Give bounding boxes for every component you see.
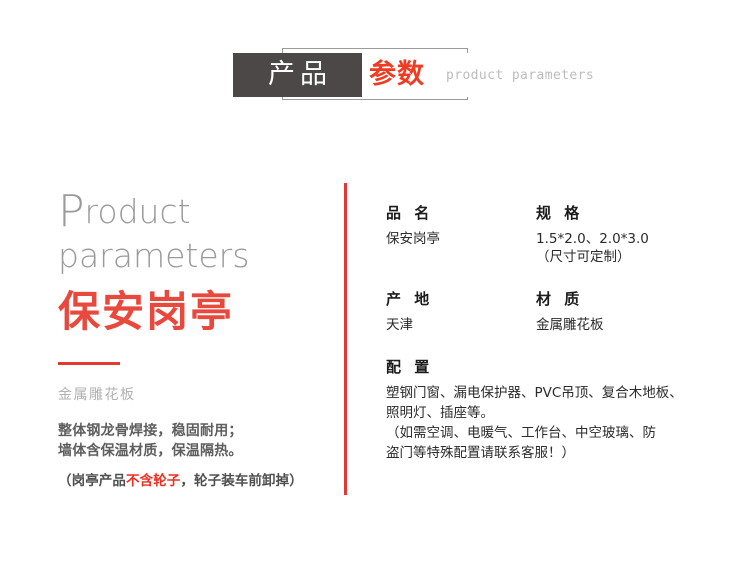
column-divider: [344, 183, 347, 495]
spec-label-material: 材 质: [536, 288, 726, 309]
left-column: Product parameters 保安岗亭 金属雕花板 整体钢龙骨焊接，稳固…: [58, 150, 328, 489]
accent-rule: [58, 362, 120, 365]
spec-value-material: 金属雕花板: [536, 316, 726, 334]
spec-value-size: 1.5*2.0、2.0*3.0 （尺寸可定制）: [536, 230, 726, 266]
header-title-primary: 产品: [233, 53, 362, 97]
description-block: 整体钢龙骨焊接，稳固耐用； 墙体含保温材质，保温隔热。: [58, 421, 328, 461]
spec-row: 品 名 保安岗亭 规 格 1.5*2.0、2.0*3.0 （尺寸可定制）: [386, 202, 726, 266]
config-text-line: 塑钢门窗、漏电保护器、PVC吊顶、复合木地板、: [386, 383, 716, 403]
spec-value-origin: 天津: [386, 316, 536, 334]
config-text: 塑钢门窗、漏电保护器、PVC吊顶、复合木地板、 照明灯、插座等。 （如需空调、电…: [386, 383, 716, 463]
config-label: 配 置: [386, 356, 726, 377]
english-title-rest: roduct: [85, 192, 191, 231]
material-subtitle: 金属雕花板: [58, 384, 328, 404]
configuration-block: 配 置 塑钢门窗、漏电保护器、PVC吊顶、复合木地板、 照明灯、插座等。 （如需…: [386, 356, 726, 463]
wheel-note: （岗亭产品不含轮子，轮子装车前卸掉）: [58, 469, 328, 489]
spec-value-line: 保安岗亭: [386, 230, 536, 248]
config-text-line: 盗门等特殊配置请联系客服！）: [386, 443, 716, 463]
wheel-note-suffix: ，轮子装车前卸掉）: [180, 473, 302, 489]
wheel-note-prefix: （岗亭产品: [58, 473, 126, 489]
header-title-english: product parameters: [443, 53, 597, 97]
english-title: Product parameters: [58, 192, 328, 276]
spec-cell-origin: 产 地 天津: [386, 288, 536, 334]
spec-value-product-name: 保安岗亭: [386, 230, 536, 248]
wheel-note-highlight: 不含轮子: [126, 473, 180, 489]
config-text-line: 照明灯、插座等。: [386, 403, 716, 423]
description-line-2: 墙体含保温材质，保温隔热。: [58, 441, 328, 461]
spec-row: 产 地 天津 材 质 金属雕花板: [386, 288, 726, 334]
spec-value-line: 金属雕花板: [536, 316, 726, 334]
spec-cell-product-name: 品 名 保安岗亭: [386, 202, 536, 266]
spec-value-line: （尺寸可定制）: [536, 248, 726, 266]
spec-grid: 品 名 保安岗亭 规 格 1.5*2.0、2.0*3.0 （尺寸可定制） 产 地: [386, 202, 726, 334]
english-title-dropcap: P: [58, 186, 85, 237]
english-title-line2: parameters: [58, 236, 328, 276]
page-header-banner: 产品 参数 product parameters: [0, 0, 750, 150]
header-title-accent: 参数: [369, 53, 425, 97]
product-name-title: 保安岗亭: [58, 286, 328, 338]
content-area: Product parameters 保安岗亭 金属雕花板 整体钢龙骨焊接，稳固…: [0, 150, 750, 587]
spec-label-origin: 产 地: [386, 288, 536, 309]
spec-value-line: 1.5*2.0、2.0*3.0: [536, 230, 726, 248]
spec-cell-material: 材 质 金属雕花板: [536, 288, 726, 334]
right-column: 品 名 保安岗亭 规 格 1.5*2.0、2.0*3.0 （尺寸可定制） 产 地: [386, 150, 726, 463]
config-text-line: （如需空调、电暖气、工作台、中空玻璃、防: [386, 423, 716, 443]
description-line-1: 整体钢龙骨焊接，稳固耐用；: [58, 421, 328, 441]
spec-label-product-name: 品 名: [386, 202, 536, 223]
spec-value-line: 天津: [386, 316, 536, 334]
spec-cell-size: 规 格 1.5*2.0、2.0*3.0 （尺寸可定制）: [536, 202, 726, 266]
spec-label-size: 规 格: [536, 202, 726, 223]
